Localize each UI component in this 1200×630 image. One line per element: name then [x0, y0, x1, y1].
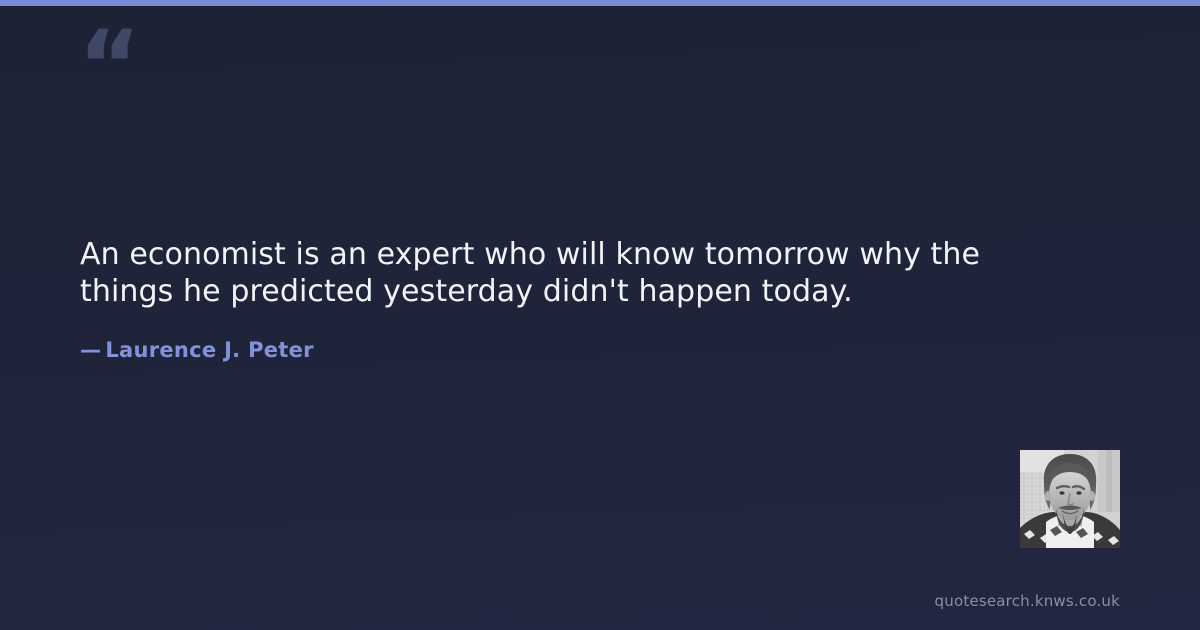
site-watermark: quotesearch.knws.co.uk: [935, 592, 1120, 610]
quote-attribution: —Laurence J. Peter: [80, 310, 1080, 362]
top-accent-bar: [0, 0, 1200, 6]
author-portrait-image: [1020, 450, 1120, 548]
quote-card: “ An economist is an expert who will kno…: [0, 0, 1200, 630]
quote-content: An economist is an expert who will know …: [80, 236, 1080, 362]
author-name: Laurence J. Peter: [105, 338, 314, 362]
quote-text: An economist is an expert who will know …: [80, 236, 985, 310]
em-dash: —: [80, 338, 101, 362]
opening-quotation-mark-icon: “: [78, 18, 139, 114]
